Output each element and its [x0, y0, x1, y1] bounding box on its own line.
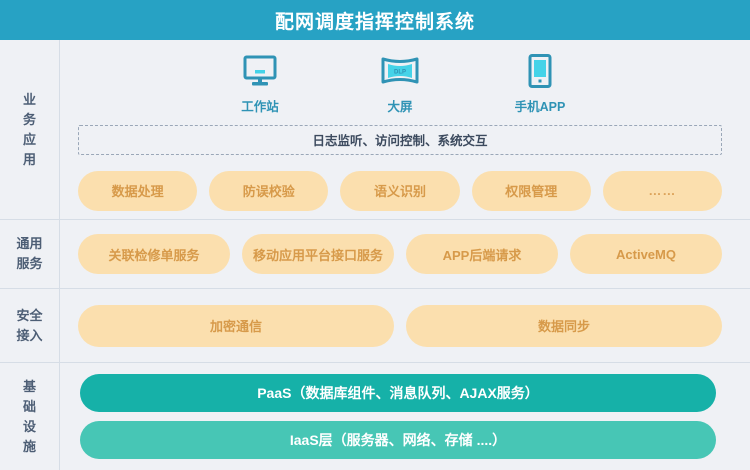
common-service-pill[interactable]: ActiveMQ [570, 234, 722, 274]
architecture-diagram-page: 配网调度指挥控制系统 业 务 应 用 [0, 0, 750, 470]
layer-label-char: 施 [23, 437, 36, 457]
common-service-pill[interactable]: 关联检修单服务 [78, 234, 230, 274]
device-workstation[interactable]: 工作站 [220, 53, 300, 115]
page-title: 配网调度指挥控制系统 [275, 7, 475, 34]
layer-row-business: 业 务 应 用 [0, 40, 750, 220]
iaas-bar[interactable]: IaaS层（服务器、网络、存储 ....） [80, 421, 716, 459]
device-label: 工作站 [241, 96, 279, 115]
layer-label-char: 务 [23, 110, 36, 130]
common-service-pill[interactable]: APP后端请求 [406, 234, 558, 274]
smartphone-icon [528, 53, 552, 89]
dlp-screen-icon: DLP [380, 53, 420, 89]
layer-label-infrastructure: 基 础 设 施 [0, 363, 60, 470]
capability-pill[interactable]: 数据处理 [78, 171, 197, 211]
paas-bar[interactable]: PaaS（数据库组件、消息队列、AJAX服务） [80, 374, 716, 412]
layer-label-char: 业 [23, 90, 36, 110]
device-list: 工作站 DLP 大屏 [78, 53, 722, 115]
device-large-screen[interactable]: DLP 大屏 [360, 53, 440, 115]
layer-row-security-access: 安全 接入 加密通信 数据同步 [0, 289, 750, 363]
monitor-icon [243, 53, 277, 89]
security-pill-row: 加密通信 数据同步 [78, 305, 722, 347]
common-service-pill[interactable]: 移动应用平台接口服务 [242, 234, 394, 274]
layer-label-char: 用 [23, 150, 36, 170]
layer-label-line: 接入 [16, 326, 42, 346]
layer-content-common-services: 关联检修单服务 移动应用平台接口服务 APP后端请求 ActiveMQ [60, 220, 750, 288]
layer-label-char: 基 [23, 377, 36, 397]
page-header: 配网调度指挥控制系统 [0, 0, 750, 40]
svg-text:DLP: DLP [394, 69, 406, 75]
security-pill[interactable]: 加密通信 [78, 305, 394, 347]
diagram-body: 业 务 应 用 [0, 40, 750, 470]
layer-label-line: 通用 [16, 234, 42, 254]
security-pill[interactable]: 数据同步 [406, 305, 722, 347]
device-label: 大屏 [387, 96, 412, 115]
layer-content-infrastructure: PaaS（数据库组件、消息队列、AJAX服务） IaaS层（服务器、网络、存储 … [60, 363, 750, 470]
layer-label-char: 设 [23, 417, 36, 437]
layer-label-security-access: 安全 接入 [0, 289, 60, 362]
layer-label-line: 服务 [16, 254, 42, 274]
layer-row-infrastructure: 基 础 设 施 PaaS（数据库组件、消息队列、AJAX服务） IaaS层（服务… [0, 363, 750, 470]
device-mobile-app[interactable]: 手机APP [500, 53, 580, 115]
common-service-pill-row: 关联检修单服务 移动应用平台接口服务 APP后端请求 ActiveMQ [78, 234, 722, 274]
layer-content-business: 工作站 DLP 大屏 [60, 40, 750, 219]
infrastructure-bar-list: PaaS（数据库组件、消息队列、AJAX服务） IaaS层（服务器、网络、存储 … [78, 374, 722, 459]
layer-label-line: 安全 [16, 306, 42, 326]
capability-pill-more[interactable]: …… [603, 171, 722, 211]
capability-pill[interactable]: 权限管理 [472, 171, 591, 211]
capability-pill-row: 数据处理 防误校验 语义识别 权限管理 …… [78, 171, 722, 211]
layer-label-char: 应 [23, 130, 36, 150]
layer-content-security-access: 加密通信 数据同步 [60, 289, 750, 362]
layer-label-common-services: 通用 服务 [0, 220, 60, 288]
capability-pill[interactable]: 防误校验 [209, 171, 328, 211]
device-label: 手机APP [515, 96, 566, 115]
interaction-services-text: 日志监听、访问控制、系统交互 [312, 130, 487, 149]
capability-pill[interactable]: 语义识别 [340, 171, 459, 211]
layer-label-business: 业 务 应 用 [0, 40, 60, 219]
layer-label-char: 础 [23, 397, 36, 417]
layer-row-common-services: 通用 服务 关联检修单服务 移动应用平台接口服务 APP后端请求 ActiveM… [0, 220, 750, 289]
interaction-services-bar: 日志监听、访问控制、系统交互 [78, 125, 722, 155]
